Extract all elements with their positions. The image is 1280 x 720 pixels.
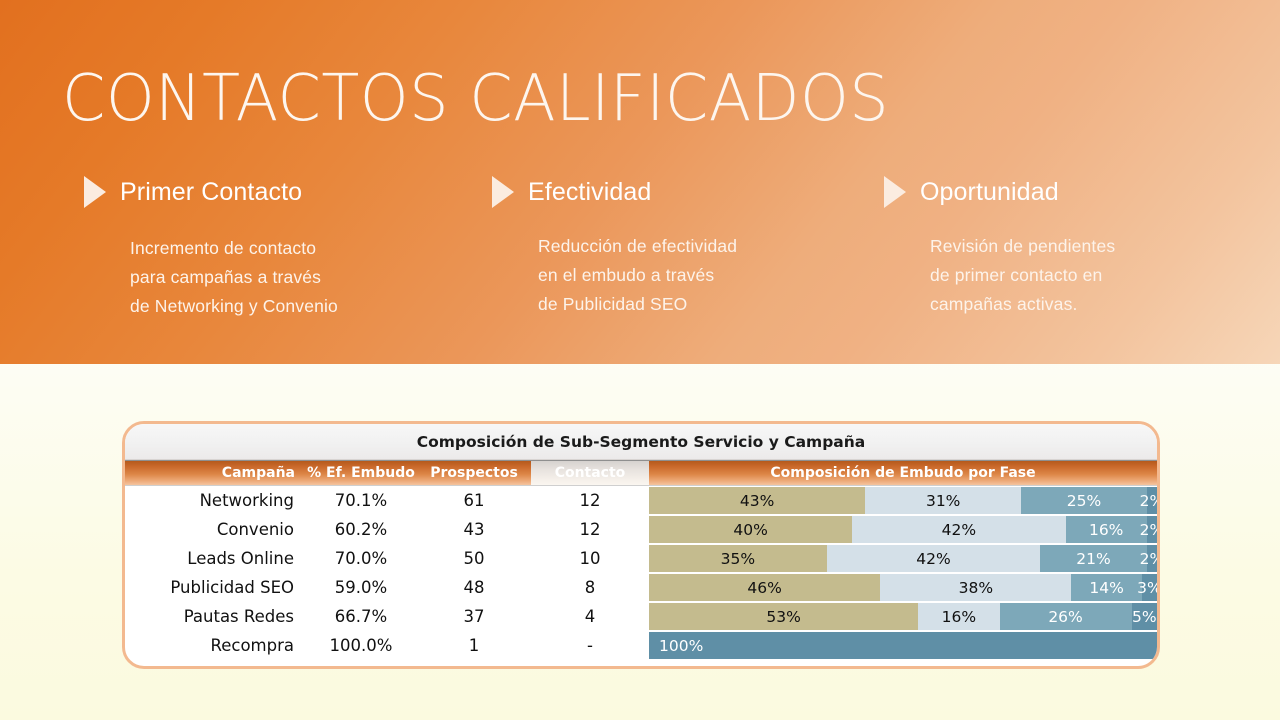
bar-segment-phase-2: 42%: [852, 516, 1065, 543]
bar-segment-phase-1: 35%: [649, 545, 827, 572]
table-row[interactable]: Recompra100.0%1-100%: [125, 631, 1157, 660]
table-row[interactable]: Leads Online70.0%501035%42%21%2%: [125, 544, 1157, 573]
page-title: CONTACTOS CALIFICADOS: [62, 62, 889, 136]
feature-title: Primer Contacto: [120, 178, 302, 207]
cell-prospects: 1: [417, 631, 531, 660]
feature-line: de primer contacto en: [930, 261, 1280, 290]
cell-campaign: Networking: [125, 486, 305, 515]
feature-line: Reducción de efectividad: [538, 232, 892, 261]
triangle-right-icon: [884, 176, 906, 208]
feature-line: de Publicidad SEO: [538, 290, 892, 319]
cell-contact: 4: [531, 602, 649, 631]
stacked-bar: 53%16%26%5%: [649, 602, 1157, 631]
cell-campaign: Publicidad SEO: [125, 573, 305, 602]
cell-contact: 12: [531, 515, 649, 544]
cell-prospects: 50: [417, 544, 531, 573]
feature-line: en el embudo a través: [538, 261, 892, 290]
column-header-campaign[interactable]: Campaña: [125, 461, 305, 485]
feature-header: Efectividad: [492, 172, 892, 212]
stacked-bar: 40%42%16%2%: [649, 515, 1157, 544]
table-row[interactable]: Pautas Redes66.7%37453%16%26%5%: [125, 602, 1157, 631]
bar-segment-phase-3: 100%: [649, 632, 1157, 659]
bar-segment-phase-2: 42%: [827, 545, 1040, 572]
cell-efficiency: 59.0%: [305, 573, 417, 602]
cell-efficiency: 60.2%: [305, 515, 417, 544]
column-header-efficiency[interactable]: % Ef. Embudo: [305, 461, 417, 485]
column-header-contact[interactable]: Contacto: [531, 461, 649, 485]
feature-body: Reducción de efectividad en el embudo a …: [538, 232, 892, 319]
bar-segment-phase-3: 16%: [1066, 516, 1147, 543]
column-header-prospects[interactable]: Prospectos: [417, 461, 531, 485]
feature-body: Revisión de pendientes de primer contact…: [930, 232, 1280, 319]
bar-segment-phase-4: 3%: [1142, 574, 1157, 601]
cell-contact: 12: [531, 486, 649, 515]
bar-segment-phase-3: 21%: [1040, 545, 1147, 572]
cell-campaign: Recompra: [125, 631, 305, 660]
table-body: Networking70.1%611243%31%25%2%Convenio60…: [125, 486, 1157, 660]
feature-column-efectividad: Efectividad Reducción de efectividad en …: [492, 172, 892, 319]
bar-segment-phase-2: 38%: [880, 574, 1071, 601]
feature-title: Efectividad: [528, 178, 651, 207]
bar-segment-phase-3: 25%: [1021, 487, 1147, 514]
cell-prospects: 37: [417, 602, 531, 631]
feature-header: Oportunidad: [884, 172, 1280, 212]
feature-title: Oportunidad: [920, 178, 1059, 207]
stacked-bar: 43%31%25%2%: [649, 486, 1157, 515]
data-table-card: Composición de Sub-Segmento Servicio y C…: [122, 421, 1160, 669]
cell-campaign: Convenio: [125, 515, 305, 544]
cell-efficiency: 100.0%: [305, 631, 417, 660]
bar-segment-phase-1: 40%: [649, 516, 852, 543]
feature-line: Revisión de pendientes: [930, 232, 1280, 261]
triangle-right-icon: [492, 176, 514, 208]
bar-segment-phase-4: 2%: [1147, 516, 1157, 543]
feature-column-primer-contacto: Primer Contacto Incremento de contacto p…: [84, 172, 484, 321]
table-row[interactable]: Convenio60.2%431240%42%16%2%: [125, 515, 1157, 544]
table-title: Composición de Sub-Segmento Servicio y C…: [125, 424, 1157, 460]
feature-header: Primer Contacto: [84, 172, 484, 212]
hero-banner: CONTACTOS CALIFICADOS Primer Contacto In…: [0, 0, 1280, 364]
table-row[interactable]: Networking70.1%611243%31%25%2%: [125, 486, 1157, 515]
cell-prospects: 61: [417, 486, 531, 515]
triangle-right-icon: [84, 176, 106, 208]
cell-prospects: 48: [417, 573, 531, 602]
feature-column-oportunidad: Oportunidad Revisión de pendientes de pr…: [884, 172, 1280, 319]
cell-contact: 10: [531, 544, 649, 573]
cell-contact: -: [531, 631, 649, 660]
feature-line: Incremento de contacto: [130, 234, 484, 263]
bar-segment-phase-4: 2%: [1147, 487, 1157, 514]
stacked-bar: 100%: [649, 631, 1157, 660]
bar-segment-phase-4: 2%: [1147, 545, 1157, 572]
bar-segment-phase-1: 46%: [649, 574, 880, 601]
cell-contact: 8: [531, 573, 649, 602]
stacked-bar: 35%42%21%2%: [649, 544, 1157, 573]
bar-segment-phase-3: 14%: [1071, 574, 1141, 601]
feature-line: campañas activas.: [930, 290, 1280, 319]
cell-prospects: 43: [417, 515, 531, 544]
cell-efficiency: 70.0%: [305, 544, 417, 573]
bar-segment-phase-2: 31%: [865, 487, 1021, 514]
bar-segment-phase-1: 43%: [649, 487, 865, 514]
cell-efficiency: 70.1%: [305, 486, 417, 515]
bar-segment-phase-1: 53%: [649, 603, 918, 630]
feature-line: para campañas a través: [130, 263, 484, 292]
column-header-composition[interactable]: Composición de Embudo por Fase: [649, 461, 1157, 485]
table-header-row: Campaña % Ef. Embudo Prospectos Contacto…: [125, 460, 1157, 486]
cell-campaign: Leads Online: [125, 544, 305, 573]
bar-segment-phase-3: 26%: [1000, 603, 1132, 630]
table-row[interactable]: Publicidad SEO59.0%48846%38%14%3%: [125, 573, 1157, 602]
feature-line: de Networking y Convenio: [130, 292, 484, 321]
cell-campaign: Pautas Redes: [125, 602, 305, 631]
stacked-bar: 46%38%14%3%: [649, 573, 1157, 602]
bar-segment-phase-2: 16%: [918, 603, 999, 630]
bar-segment-phase-4: 5%: [1132, 603, 1157, 630]
cell-efficiency: 66.7%: [305, 602, 417, 631]
feature-body: Incremento de contacto para campañas a t…: [130, 234, 484, 321]
